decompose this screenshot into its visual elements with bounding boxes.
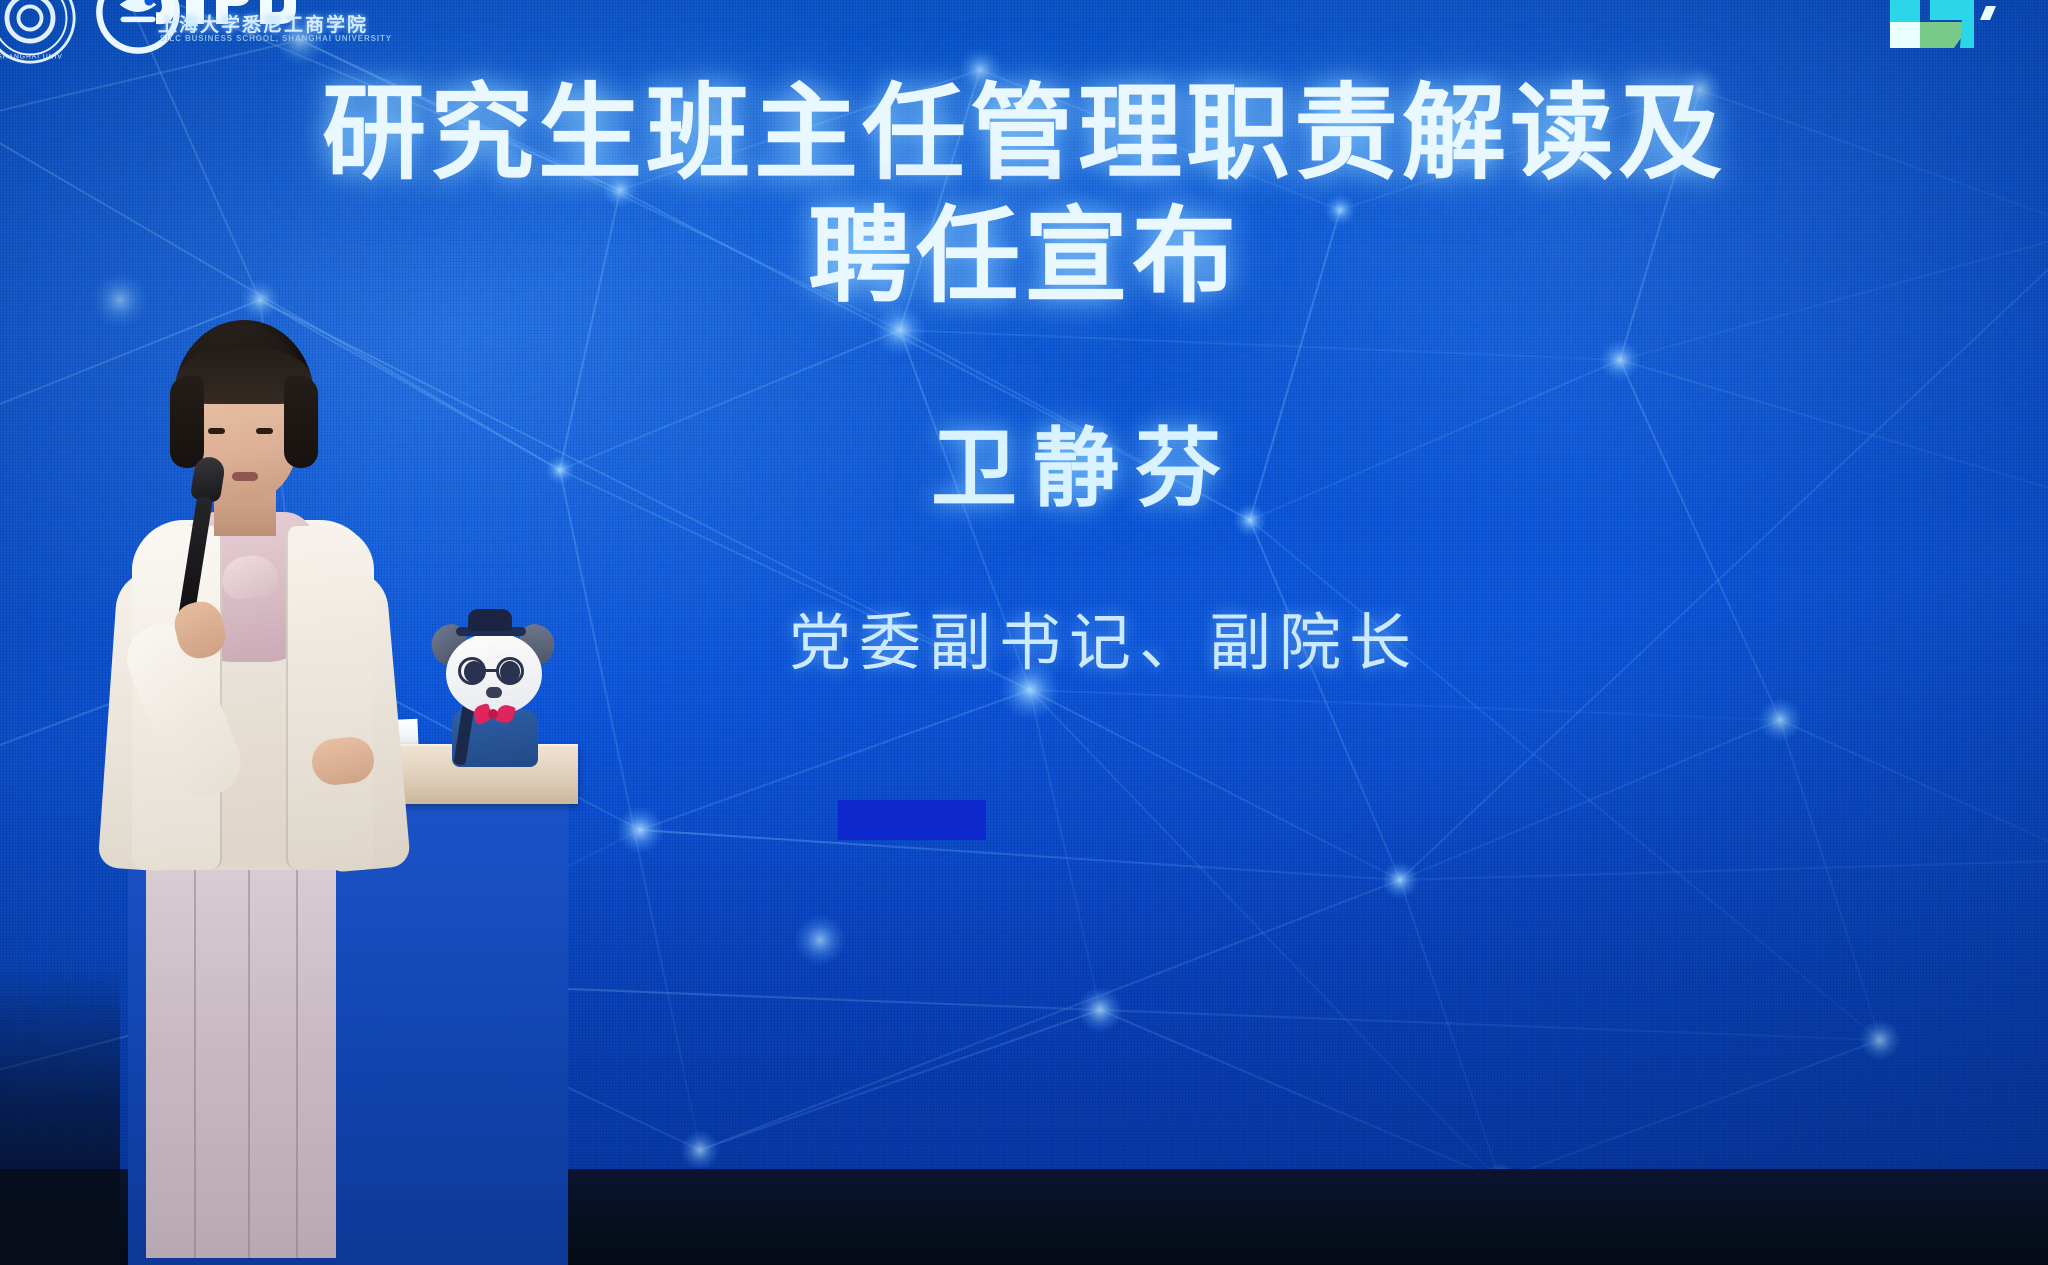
svg-text:SHANGHAI UNIV: SHANGHAI UNIV — [0, 53, 63, 60]
institution-name-en: SILC BUSINESS SCHOOL, SHANGHAI UNIVERSIT… — [160, 34, 392, 43]
presenter-skirt — [146, 858, 336, 1258]
presenter-eye-left — [208, 428, 225, 434]
panda-plush-mascot — [430, 613, 562, 765]
presenter-figure — [90, 320, 420, 1265]
mascot-glasses-left — [458, 657, 486, 685]
mascot-cap — [468, 609, 512, 631]
screenshot-root: SHANGHAI UNIV 上海大学悉尼工商学院 SILC BUSINESS S… — [0, 0, 2048, 1265]
presenter-hair-side-right — [284, 376, 318, 468]
presenter-eye-right — [256, 428, 273, 434]
shanghai-university-seal-logo: SHANGHAI UNIV — [0, 0, 78, 66]
mascot-glasses-bridge — [485, 669, 499, 672]
slide-title: 研究生班主任管理职责解读及 聘任宣布 — [0, 72, 2048, 317]
mascot-nose — [486, 687, 502, 698]
mascot-bowtie-knot — [488, 709, 498, 719]
skirt-fold — [194, 858, 196, 1258]
mascot-glasses-right — [496, 657, 524, 685]
subtitle-placeholder-bar — [838, 800, 986, 840]
cyan-green-geometric-block-icon — [1878, 0, 2048, 58]
slide-title-line-1: 研究生班主任管理职责解读及 — [60, 72, 1988, 195]
presenter-hair-side-left — [170, 376, 204, 468]
institution-name-cn: 上海大学悉尼工商学院 — [158, 10, 368, 37]
skirt-fold — [248, 858, 250, 1258]
skirt-fold — [296, 858, 298, 1258]
presenter-mouth — [232, 472, 258, 481]
header-logo-bar: SHANGHAI UNIV 上海大学悉尼工商学院 SILC BUSINESS S… — [0, 0, 640, 52]
slide-title-line-2: 聘任宣布 — [60, 195, 1988, 318]
presenter-jacket-right — [286, 526, 374, 870]
